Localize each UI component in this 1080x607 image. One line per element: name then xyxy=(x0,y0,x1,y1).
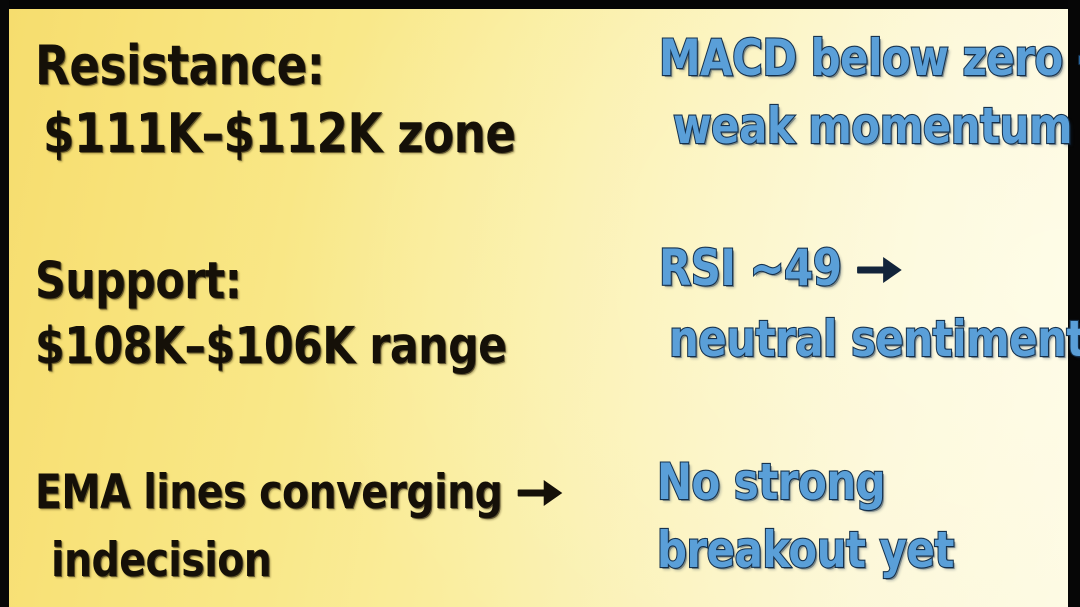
support-detail: $108K–$106K range xyxy=(35,321,507,372)
support-detail-text: $108K–$106K range xyxy=(35,317,507,376)
macd-heading: MACD below zero xyxy=(659,33,1080,83)
macd-heading-text: MACD below zero xyxy=(659,29,1063,87)
breakout-detail: breakout yet xyxy=(657,525,954,575)
support-heading-text: Support: xyxy=(35,252,241,311)
ema-heading: EMA lines converging xyxy=(35,469,564,516)
frame-bar-top xyxy=(0,0,1080,9)
slide-root: Resistance: $111K–$112K zone Support: $1… xyxy=(0,0,1080,607)
frame-bar-left xyxy=(0,0,9,607)
breakout-heading: No strong xyxy=(657,457,885,507)
rsi-detail: neutral sentiment xyxy=(669,314,1080,364)
breakout-detail-text: breakout yet xyxy=(657,521,954,579)
macd-detail: weak momentum xyxy=(673,101,1072,151)
macd-detail-text: weak momentum xyxy=(673,97,1072,155)
rsi-heading-text: RSI ~49 xyxy=(659,239,841,297)
frame-bar-right xyxy=(1068,0,1080,607)
breakout-heading-text: No strong xyxy=(657,453,885,511)
rsi-heading: RSI ~49 xyxy=(659,243,904,293)
resistance-detail-text: $111K–$112K zone xyxy=(43,102,516,165)
resistance-heading: Resistance: xyxy=(35,39,324,93)
left-column: Resistance: $111K–$112K zone Support: $1… xyxy=(9,9,629,607)
right-column: MACD below zero weak momentum RSI ~49 xyxy=(629,9,1068,607)
ema-detail-text: indecision xyxy=(51,533,271,588)
resistance-detail: $111K–$112K zone xyxy=(43,107,516,161)
resistance-heading-text: Resistance: xyxy=(35,34,324,97)
arrow-right-icon xyxy=(516,476,564,510)
rsi-detail-text: neutral sentiment xyxy=(669,310,1080,368)
ema-detail: indecision xyxy=(51,537,271,584)
slide-canvas: Resistance: $111K–$112K zone Support: $1… xyxy=(9,9,1068,607)
ema-heading-text: EMA lines converging xyxy=(35,465,502,520)
support-heading: Support: xyxy=(35,256,241,307)
arrow-right-icon xyxy=(856,253,904,287)
